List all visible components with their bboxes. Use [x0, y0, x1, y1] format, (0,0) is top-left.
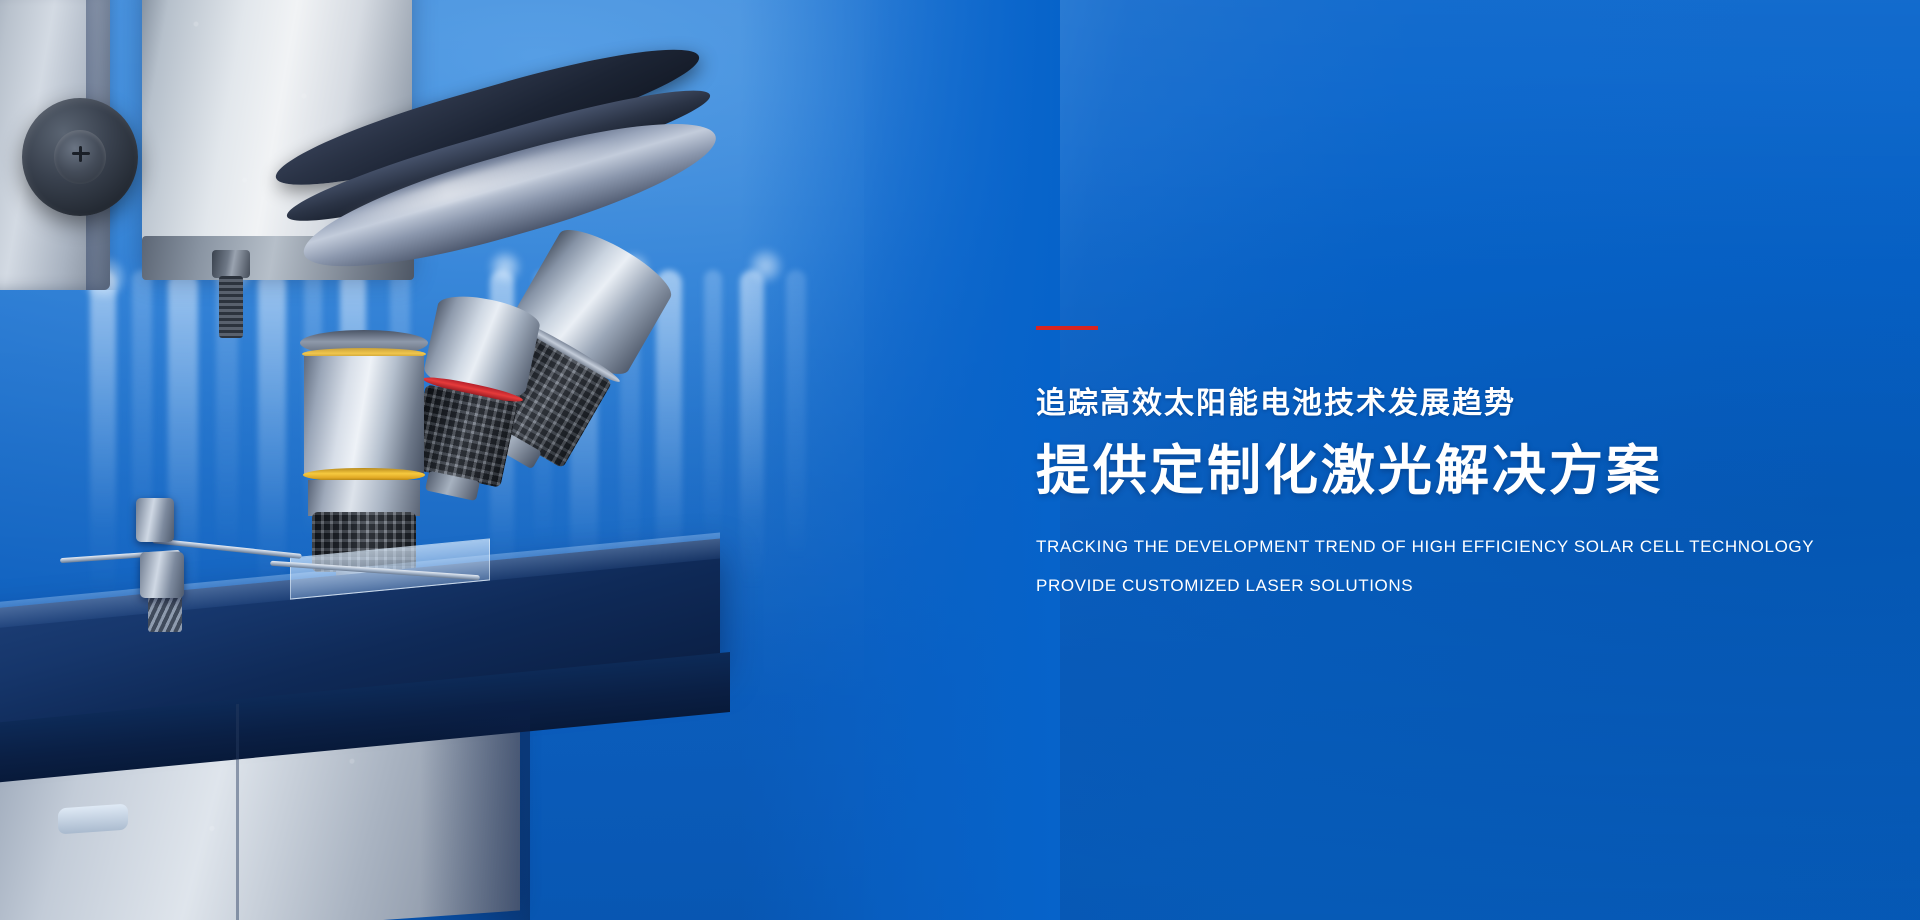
objective-1-lower-tube [308, 480, 420, 516]
hero-english-line-2: PROVIDE CUSTOMIZED LASER SOLUTIONS [1036, 577, 1796, 594]
hero-subtitle-cn: 追踪高效太阳能电池技术发展趋势 [1036, 386, 1796, 422]
slide-clip-post-lower [140, 552, 184, 598]
hero-banner: 追踪高效太阳能电池技术发展趋势 提供定制化激光解决方案 TRACKING THE… [0, 0, 1920, 920]
base-seam [236, 704, 239, 920]
accent-bar [1036, 326, 1098, 330]
microscope-photo [0, 0, 880, 920]
hero-english-line-1: TRACKING THE DEVELOPMENT TREND OF HIGH E… [1036, 538, 1796, 555]
adjustment-screw [212, 250, 250, 346]
base-notch [58, 804, 128, 835]
screw-shaft [219, 276, 243, 338]
objective-1-tube [304, 356, 424, 474]
base-right-shadow [420, 700, 530, 920]
screw-head [212, 250, 250, 278]
hero-title-cn: 提供定制化激光解决方案 [1036, 440, 1796, 504]
photo-fade-overlay [740, 0, 1060, 920]
hero-content: 追踪高效太阳能电池技术发展趋势 提供定制化激光解决方案 TRACKING THE… [1036, 0, 1796, 920]
slide-clip-post-upper [136, 498, 174, 542]
focus-knob-slot-v [79, 146, 82, 162]
slide-clip-spring [148, 596, 182, 632]
